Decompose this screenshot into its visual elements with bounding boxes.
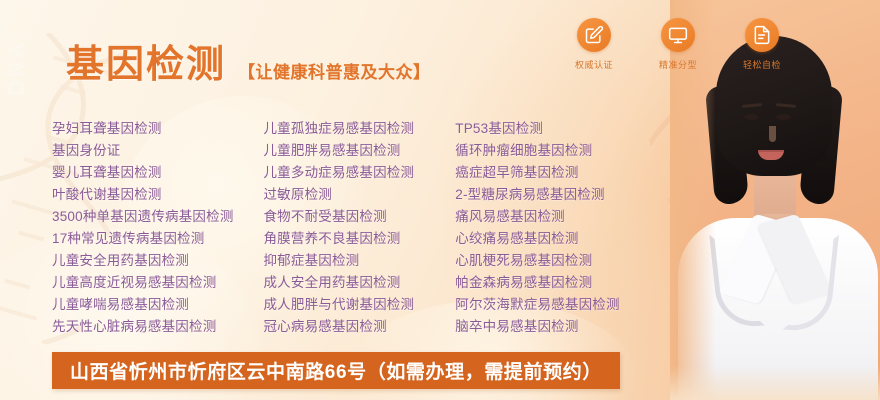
test-item-columns: 孕妇耳聋基因检测 基因身份证 婴儿耳聋基因检测 叶酸代谢基因检测 3500种单基…	[52, 118, 652, 338]
badge-label: 精准分型	[659, 58, 697, 71]
badge-label: 轻松自检	[743, 58, 781, 71]
doctor-nose	[769, 126, 776, 142]
address-banner: 山西省忻州市忻府区云中南路66号（如需办理，需提前预约）	[52, 352, 620, 389]
list-item[interactable]: 2-型糖尿病易感基因检测	[455, 184, 652, 206]
list-item[interactable]: TP53基因检测	[455, 118, 652, 140]
column-3: TP53基因检测 循环肿瘤细胞基因检测 癌症超早筛基因检测 2-型糖尿病易感基因…	[455, 118, 652, 338]
list-item[interactable]: 孕妇耳聋基因检测	[52, 118, 263, 140]
list-item[interactable]: 帕金森病易感基因检测	[455, 272, 652, 294]
list-item[interactable]: 脑卒中易感基因检测	[455, 316, 652, 338]
photo-bottom-fade	[670, 366, 880, 400]
watermark-text-left: DNA	[4, 39, 30, 96]
document-icon	[745, 18, 779, 52]
badge-authority-certification[interactable]: 权威认证	[568, 18, 620, 71]
list-item[interactable]: 儿童多动症易感基因检测	[263, 162, 455, 184]
list-item[interactable]: 循环肿瘤细胞基因检测	[455, 140, 652, 162]
list-item[interactable]: 婴儿耳聋基因检测	[52, 162, 263, 184]
list-item[interactable]: 过敏原检测	[263, 184, 455, 206]
list-item[interactable]: 成人肥胖与代谢基因检测	[263, 294, 455, 316]
badge-easy-self-check[interactable]: 轻松自检	[736, 18, 788, 71]
doctor-eye-right	[776, 114, 791, 120]
list-item[interactable]: 抑郁症基因检测	[263, 250, 455, 272]
list-item[interactable]: 儿童孤独症易感基因检测	[263, 118, 455, 140]
list-item[interactable]: 17种常见遗传病基因检测	[52, 228, 263, 250]
list-item[interactable]: 痛风易感基因检测	[455, 206, 652, 228]
pen-edit-icon	[577, 18, 611, 52]
page-title: 基因检测	[66, 46, 226, 84]
list-item[interactable]: 食物不耐受基因检测	[263, 206, 455, 228]
feature-badges: 权威认证 精准分型 轻松自检	[568, 18, 788, 71]
list-item[interactable]: 基因身份证	[52, 140, 263, 162]
page-subtitle: 【让健康科普惠及大众】	[238, 64, 431, 84]
list-item[interactable]: 3500种单基因遗传病基因检测	[52, 206, 263, 228]
list-item[interactable]: 阿尔茨海默症易感基因检测	[455, 294, 652, 316]
column-2: 儿童孤独症易感基因检测 儿童肥胖易感基因检测 儿童多动症易感基因检测 过敏原检测…	[263, 118, 455, 338]
address-text: 山西省忻州市忻府区云中南路66号（如需办理，需提前预约）	[70, 357, 602, 384]
poster-canvas: DNA DNA 基因检测 【让健康科普惠及大众】	[0, 0, 880, 400]
doctor-eye-left	[744, 114, 759, 120]
list-item[interactable]: 冠心病易感基因检测	[263, 316, 455, 338]
column-1: 孕妇耳聋基因检测 基因身份证 婴儿耳聋基因检测 叶酸代谢基因检测 3500种单基…	[52, 118, 263, 338]
list-item[interactable]: 儿童哮喘易感基因检测	[52, 294, 263, 316]
list-item[interactable]: 儿童高度近视易感基因检测	[52, 272, 263, 294]
list-item[interactable]: 心绞痛易感基因检测	[455, 228, 652, 250]
badge-label: 权威认证	[575, 58, 613, 71]
badge-precise-typing[interactable]: 精准分型	[652, 18, 704, 71]
list-item[interactable]: 叶酸代谢基因检测	[52, 184, 263, 206]
list-item[interactable]: 儿童安全用药基因检测	[52, 250, 263, 272]
poster-title-group: 基因检测 【让健康科普惠及大众】	[66, 46, 431, 84]
list-item[interactable]: 成人安全用药基因检测	[263, 272, 455, 294]
list-item[interactable]: 心肌梗死易感基因检测	[455, 250, 652, 272]
list-item[interactable]: 癌症超早筛基因检测	[455, 162, 652, 184]
list-item[interactable]: 角膜营养不良基因检测	[263, 228, 455, 250]
list-item[interactable]: 先天性心脏病易感基因检测	[52, 316, 263, 338]
list-item[interactable]: 儿童肥胖易感基因检测	[263, 140, 455, 162]
monitor-icon	[661, 18, 695, 52]
